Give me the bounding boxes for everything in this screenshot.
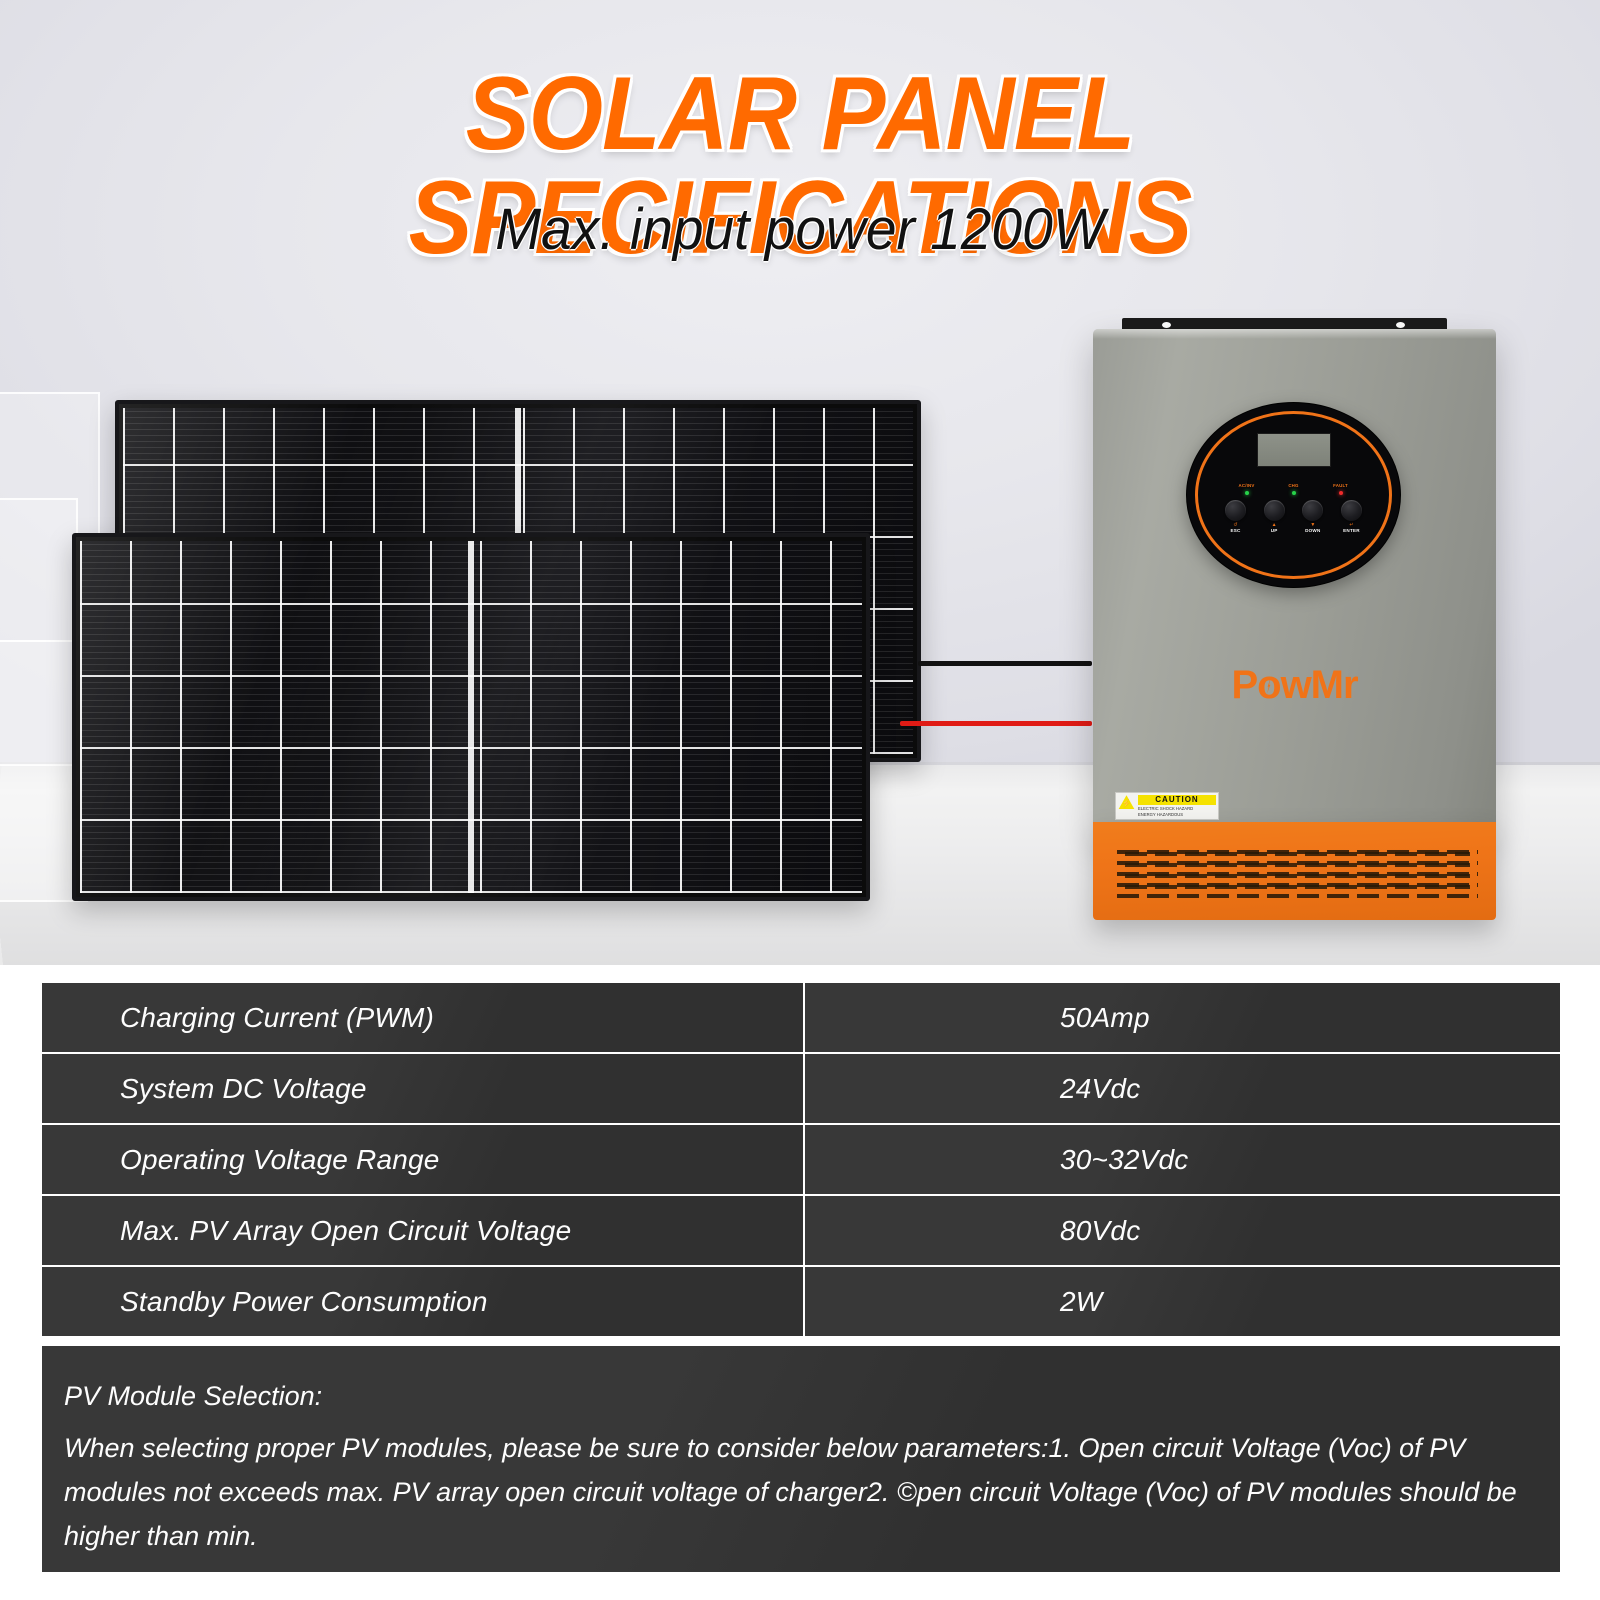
led-indicator-group: AC/INV CHG FAULT xyxy=(1224,483,1364,495)
spec-name-text: Max. PV Array Open Circuit Voltage xyxy=(120,1215,571,1247)
caution-sticker: CAUTION ELECTRIC SHOCK HAZARD ENERGY HAZ… xyxy=(1115,792,1219,820)
table-row: Standby Power Consumption 2W xyxy=(42,1267,1560,1336)
spec-value-text: 80Vdc xyxy=(1060,1215,1140,1247)
spec-value-cell: 50Amp xyxy=(805,983,1560,1052)
panel-center-gap xyxy=(468,541,474,893)
spec-value-text: 30~32Vdc xyxy=(1060,1144,1189,1176)
led-label: CHG xyxy=(1271,483,1317,488)
lcd-display xyxy=(1257,433,1331,467)
button-knob[interactable] xyxy=(1264,500,1285,521)
esc-button[interactable]: ↺ ESC xyxy=(1222,500,1250,533)
bracket-hole xyxy=(1396,322,1405,328)
button-label: UP xyxy=(1260,528,1288,533)
enter-button[interactable]: ↵ ENTER xyxy=(1337,500,1365,533)
spec-value-cell: 80Vdc xyxy=(805,1196,1560,1265)
down-button[interactable]: ▼ DOWN xyxy=(1299,500,1327,533)
table-row: System DC Voltage 24Vdc xyxy=(42,1054,1560,1123)
led-fault: FAULT xyxy=(1318,483,1364,495)
spec-name-text: System DC Voltage xyxy=(120,1073,367,1105)
solar-panel-front xyxy=(72,533,870,901)
inverter-control-face: AC/INV CHG FAULT ↺ xyxy=(1187,403,1400,587)
button-label: ENTER xyxy=(1337,528,1365,533)
led-label: AC/INV xyxy=(1224,483,1270,488)
led-label: FAULT xyxy=(1318,483,1364,488)
table-row: Max. PV Array Open Circuit Voltage 80Vdc xyxy=(42,1196,1560,1265)
spec-name-text: Standby Power Consumption xyxy=(120,1286,488,1318)
caution-line-1: ELECTRIC SHOCK HAZARD xyxy=(1138,806,1216,811)
up-button[interactable]: ▲ UP xyxy=(1260,500,1288,533)
spec-name-cell: Max. PV Array Open Circuit Voltage xyxy=(42,1196,803,1265)
pv-module-selection-note: PV Module Selection: When selecting prop… xyxy=(42,1346,1560,1572)
caution-heading: CAUTION xyxy=(1138,795,1216,805)
led-dot xyxy=(1292,491,1296,495)
led-dot xyxy=(1339,491,1343,495)
powmr-inverter: AC/INV CHG FAULT ↺ xyxy=(1060,318,1510,922)
led-dot xyxy=(1245,491,1249,495)
note-title: PV Module Selection: xyxy=(64,1378,1524,1414)
spec-value-cell: 2W xyxy=(805,1267,1560,1336)
inverter-body: AC/INV CHG FAULT ↺ xyxy=(1093,329,1496,834)
spec-value-cell: 30~32Vdc xyxy=(805,1125,1560,1194)
spec-name-cell: Operating Voltage Range xyxy=(42,1125,803,1194)
spec-name-cell: Charging Current (PWM) xyxy=(42,983,803,1052)
spec-table: Charging Current (PWM) 50Amp System DC V… xyxy=(42,983,1560,1338)
bracket-hole xyxy=(1162,322,1171,328)
page-subtitle: Max. input power 1200W xyxy=(40,198,1560,262)
button-label: DOWN xyxy=(1299,528,1327,533)
button-label: ESC xyxy=(1222,528,1250,533)
spec-value-text: 24Vdc xyxy=(1060,1073,1140,1105)
spec-value-text: 50Amp xyxy=(1060,1002,1150,1034)
note-body: When selecting proper PV modules, please… xyxy=(64,1426,1524,1558)
button-knob[interactable] xyxy=(1225,500,1246,521)
button-knob[interactable] xyxy=(1302,500,1323,521)
powmr-logo: PowMr xyxy=(1093,663,1496,708)
button-knob[interactable] xyxy=(1341,500,1362,521)
spec-name-cell: System DC Voltage xyxy=(42,1054,803,1123)
table-row: Charging Current (PWM) 50Amp xyxy=(42,983,1560,1052)
spec-name-text: Operating Voltage Range xyxy=(120,1144,440,1176)
spec-value-cell: 24Vdc xyxy=(805,1054,1560,1123)
hazard-triangle-icon xyxy=(1118,795,1135,810)
table-row: Operating Voltage Range 30~32Vdc xyxy=(42,1125,1560,1194)
button-group: ↺ ESC ▲ UP ▼ DOWN ↵ xyxy=(1222,500,1366,533)
vent-slots-offset xyxy=(1125,851,1470,893)
spec-name-cell: Standby Power Consumption xyxy=(42,1267,803,1336)
hero-scene: AC/INV CHG FAULT ↺ xyxy=(0,0,1600,965)
spec-name-text: Charging Current (PWM) xyxy=(120,1002,434,1034)
spec-value-text: 2W xyxy=(1060,1286,1102,1318)
led-ac-inv: AC/INV xyxy=(1224,483,1270,495)
caution-line-2: ENERGY HAZARDOUS xyxy=(1138,812,1216,817)
led-chg: CHG xyxy=(1271,483,1317,495)
lightning-bolt-icon: o xyxy=(1257,663,1280,707)
inverter-vent-base xyxy=(1093,822,1496,920)
